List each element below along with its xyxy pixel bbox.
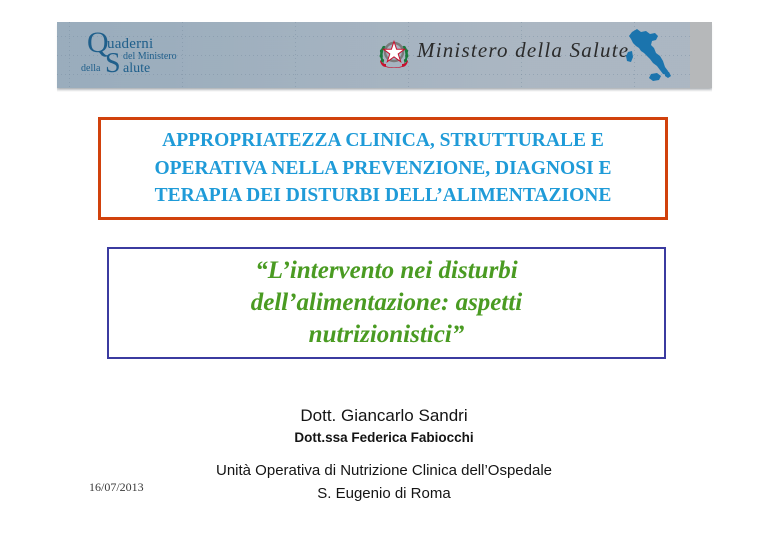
quaderni-logo-word-della: della [81, 63, 100, 74]
authors-block: Dott. Giancarlo Sandri Dott.ssa Federica… [0, 405, 768, 448]
main-title-line-3: TERAPIA DEI DISTURBI DELL’ALIMENTAZIONE [154, 182, 611, 210]
author-secondary-name: Dott.ssa Federica Fabiocchi [0, 428, 768, 448]
quaderni-logo-s-initial: S [105, 50, 121, 78]
date-stamp: 16/07/2013 [89, 480, 144, 495]
subtitle-line-1: “L’intervento nei disturbi [251, 255, 523, 287]
italian-republic-emblem-icon [377, 36, 411, 72]
main-title-box: APPROPRIATEZZA CLINICA, STRUTTURALE E OP… [98, 117, 668, 220]
ministry-wordmark: Ministero della Salute [417, 38, 629, 63]
quaderni-logo-word-salute: alute [123, 61, 150, 77]
quaderni-logo: Q uaderni del Ministero della S alute [79, 30, 229, 80]
affiliation-line-1: Unità Operativa di Nutrizione Clinica de… [0, 459, 768, 482]
subtitle-box: “L’intervento nei disturbi dell’alimenta… [107, 247, 666, 359]
subtitle-line-2: dell’alimentazione: aspetti [251, 287, 523, 319]
banner-endcap [690, 22, 712, 88]
header-banner: Q uaderni del Ministero della S alute [57, 22, 712, 88]
subtitle-line-3: nutrizionistici” [251, 319, 523, 351]
author-primary-name: Dott. Giancarlo Sandri [0, 405, 768, 428]
subtitle-text: “L’intervento nei disturbi dell’alimenta… [241, 255, 533, 351]
main-title-line-2: OPERATIVA NELLA PREVENZIONE, DIAGNOSI E [154, 155, 611, 183]
italy-map-icon [620, 26, 676, 84]
main-title-text: APPROPRIATEZZA CLINICA, STRUTTURALE E OP… [146, 127, 619, 210]
main-title-line-1: APPROPRIATEZZA CLINICA, STRUTTURALE E [154, 127, 611, 155]
